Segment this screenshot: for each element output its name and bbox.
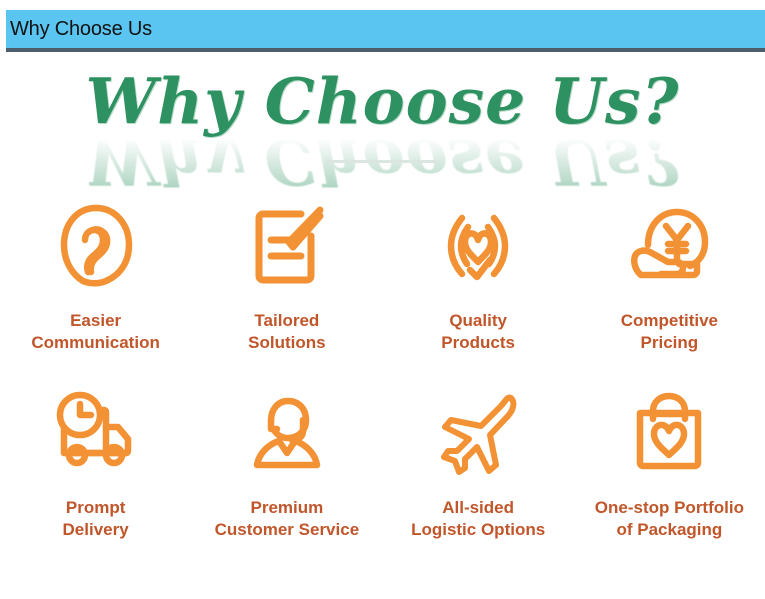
feature-row-two: Prompt Delivery Premium Customer Service — [0, 383, 765, 542]
feature-card-easier-communication[interactable]: Easier Communication — [0, 196, 191, 355]
feature-card-one-stop-portfolio-packaging[interactable]: One-stop Portfolio of Packaging — [574, 383, 765, 542]
feature-label: Tailored Solutions — [248, 310, 325, 355]
document-pencil-icon — [237, 196, 337, 296]
feature-label: Prompt Delivery — [63, 497, 129, 542]
airplane-icon — [428, 383, 528, 483]
feature-card-all-sided-logistic-options[interactable]: All-sided Logistic Options — [383, 383, 574, 542]
feature-label: Quality Products — [441, 310, 515, 355]
feature-card-prompt-delivery[interactable]: Prompt Delivery — [0, 383, 191, 542]
feature-label: Premium Customer Service — [215, 497, 360, 542]
feature-label: Easier Communication — [31, 310, 159, 355]
feature-row-one: Easier Communication Tailored Solutions — [0, 196, 765, 355]
heart-signal-check-icon — [428, 196, 528, 296]
feature-card-quality-products[interactable]: Quality Products — [383, 196, 574, 355]
feature-label: All-sided Logistic Options — [411, 497, 545, 542]
hero-divider — [326, 160, 438, 163]
truck-clock-icon — [46, 383, 146, 483]
window-title: Why Choose Us — [6, 18, 152, 41]
feature-card-premium-customer-service[interactable]: Premium Customer Service — [191, 383, 382, 542]
page-title: Why Choose Us? — [0, 70, 765, 133]
shopping-bag-heart-icon — [619, 383, 719, 483]
feature-card-competitive-pricing[interactable]: Competitive Pricing — [574, 196, 765, 355]
feature-label: One-stop Portfolio of Packaging — [595, 497, 744, 542]
feature-card-tailored-solutions[interactable]: Tailored Solutions — [191, 196, 382, 355]
hand-coin-yen-icon — [619, 196, 719, 296]
hero-section: Why Choose Us? Why Choose Us? — [0, 56, 765, 168]
window-titlebar: Why Choose Us — [6, 10, 765, 52]
ear-listening-icon — [46, 196, 146, 296]
headset-agent-icon — [237, 383, 337, 483]
page-title-text: Why Choose Us? — [86, 70, 680, 133]
feature-label: Competitive Pricing — [621, 310, 718, 355]
page-content: Why Choose Us? Why Choose Us? Easier Com… — [0, 56, 765, 599]
